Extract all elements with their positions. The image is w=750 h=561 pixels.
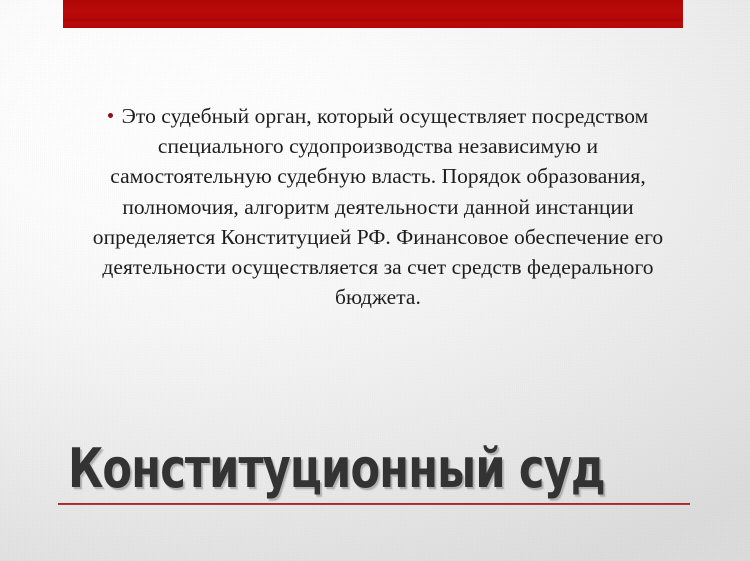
top-accent-bar xyxy=(63,0,683,28)
slide-body-content: Это судебный орган, который осуществляет… xyxy=(82,101,674,312)
slide-title-container: Конституционный суд xyxy=(68,440,698,498)
page-title: Конституционный суд xyxy=(68,440,572,498)
title-underline-rule xyxy=(58,503,690,505)
bullet-list: Это судебный орган, который осуществляет… xyxy=(82,101,674,312)
bullet-text: Это судебный орган, который осуществляет… xyxy=(93,104,663,309)
bullet-dot-icon xyxy=(108,113,113,118)
presentation-slide: Это судебный орган, который осуществляет… xyxy=(0,0,750,561)
list-item: Это судебный орган, который осуществляет… xyxy=(82,101,674,312)
